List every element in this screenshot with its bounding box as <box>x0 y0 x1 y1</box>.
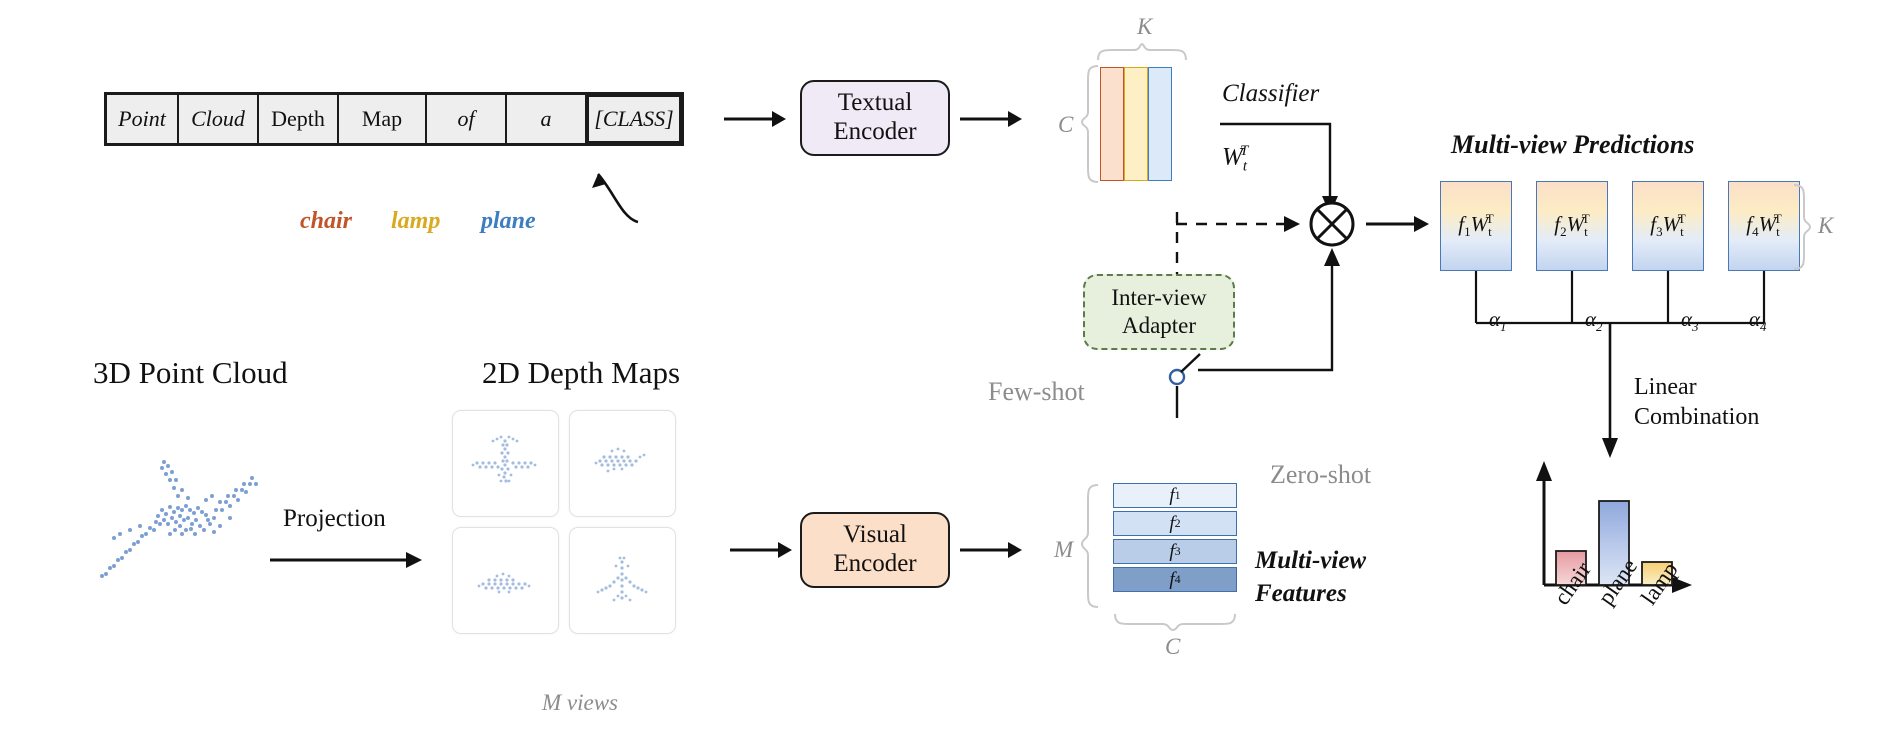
feature-row-2[interactable]: f2 <box>1113 511 1237 536</box>
depth-map-view-1[interactable] <box>452 410 559 517</box>
features-caption-line2: Features <box>1255 578 1366 611</box>
pred4-wsub: t <box>1776 225 1780 240</box>
alpha-3-symbol: α <box>1681 307 1692 331</box>
alpha-4-symbol: α <box>1749 307 1760 331</box>
adapter-upward-dashed-connector <box>1170 212 1184 282</box>
alpha-4-sub: 4 <box>1760 319 1767 334</box>
arrow-adapter-to-operator-dashed <box>1176 212 1306 236</box>
pred3-wsup: T <box>1678 211 1686 226</box>
class-word-lamp[interactable]: lamp <box>391 208 440 235</box>
depth-map-1-points <box>453 411 558 516</box>
feature-row-3[interactable]: f3 <box>1113 539 1237 564</box>
pred2-wsup: T <box>1582 211 1590 226</box>
prediction-box-3[interactable]: f3WtT <box>1632 181 1704 271</box>
alpha-label-4: α4 <box>1749 307 1767 335</box>
prediction-boxes-group: f1WtT f2WtT f3WtT f4WtT <box>1440 181 1800 271</box>
visual-encoder-box[interactable]: Visual Encoder <box>800 512 950 588</box>
multi-view-features-caption: Multi-view Features <box>1255 545 1366 610</box>
prompt-token-class[interactable]: [CLASS] <box>586 94 682 144</box>
depth-map-view-4[interactable] <box>569 527 676 634</box>
projection-label: Projection <box>283 505 386 533</box>
predictions-dim-k-label: K <box>1818 213 1833 239</box>
depth-map-2-points <box>570 411 675 516</box>
arrow-prompt-to-textual-encoder <box>724 107 788 131</box>
features-dim-m-label: M <box>1054 537 1073 563</box>
prompt-token-cloud[interactable]: Cloud <box>179 95 259 143</box>
alpha-3-sub: 3 <box>1692 319 1699 334</box>
pred3-wsub: t <box>1680 225 1684 240</box>
prediction-box-4[interactable]: f4WtT <box>1728 181 1800 271</box>
feature-2-sub: 2 <box>1175 516 1181 531</box>
depth-map-view-3[interactable] <box>452 527 559 634</box>
prompt-token-point[interactable]: Point <box>107 95 179 143</box>
pred1-wsub: t <box>1488 225 1492 240</box>
zero-shot-label: Zero-shot <box>1270 460 1371 490</box>
classifier-label: Classifier <box>1222 80 1319 108</box>
prediction-box-1[interactable]: f1WtT <box>1440 181 1512 271</box>
textual-encoder-box[interactable]: Textual Encoder <box>800 80 950 156</box>
point-cloud-visualization <box>70 430 290 590</box>
few-shot-label: Few-shot <box>988 377 1085 407</box>
depth-maps-caption: M views <box>542 690 618 716</box>
linear-combination-label: Linear Combination <box>1634 372 1759 432</box>
depth-map-view-2[interactable] <box>569 410 676 517</box>
prediction-box-2[interactable]: f2WtT <box>1536 181 1608 271</box>
arrow-projection <box>270 548 425 572</box>
classifier-dim-k-label: K <box>1137 14 1152 40</box>
class-word-plane[interactable]: plane <box>481 208 536 235</box>
textual-encoder-line2: Encoder <box>833 118 916 147</box>
classifier-column-plane[interactable] <box>1148 67 1172 181</box>
prompt-token-of[interactable]: of <box>427 95 507 143</box>
feature-1-sub: 1 <box>1175 488 1181 503</box>
feature-row-1[interactable]: f1 <box>1113 483 1237 508</box>
visual-encoder-line2: Encoder <box>833 550 916 579</box>
arrow-visual-encoder-to-features <box>960 538 1024 562</box>
alpha-label-1: α1 <box>1489 307 1507 335</box>
features-brace-bottom-icon <box>1113 612 1237 632</box>
feature-row-4[interactable]: f4 <box>1113 567 1237 592</box>
tensor-product-icon <box>1308 200 1356 248</box>
alpha-1-symbol: α <box>1489 307 1500 331</box>
classifier-matrix <box>1100 67 1172 181</box>
feature-3-sub: 3 <box>1175 544 1181 559</box>
depth-map-4-points <box>570 528 675 633</box>
classifier-column-lamp[interactable] <box>1124 67 1148 181</box>
point-cloud-title: 3D Point Cloud <box>93 355 288 391</box>
arrow-linear-combination <box>1598 322 1622 462</box>
linear-combination-line2: Combination <box>1634 402 1759 432</box>
alpha-label-3: α3 <box>1681 307 1699 335</box>
features-caption-line1: Multi-view <box>1255 545 1366 578</box>
predictions-brace-icon <box>1792 183 1812 271</box>
pred4-wsup: T <box>1774 211 1782 226</box>
visual-encoder-line1: Visual <box>833 521 916 550</box>
alpha-1-sub: 1 <box>1500 319 1507 334</box>
depth-map-3-points <box>453 528 558 633</box>
class-curved-arrow-icon <box>540 140 670 230</box>
classifier-column-chair[interactable] <box>1100 67 1124 181</box>
alpha-2-symbol: α <box>1585 307 1596 331</box>
multi-view-feature-stack: f1 f2 f3 f4 <box>1113 483 1237 595</box>
features-brace-left-icon <box>1080 483 1100 609</box>
zero-shot-path-to-operator <box>1188 246 1348 378</box>
feature-4-sub: 4 <box>1175 572 1181 587</box>
depth-map-grid <box>452 410 674 632</box>
arrow-textual-encoder-to-classifier <box>960 107 1024 131</box>
classifier-brace-left-icon <box>1080 64 1100 184</box>
class-word-chair[interactable]: chair <box>300 208 352 235</box>
prompt-template-table: Point Cloud Depth Map of a [CLASS] <box>104 92 684 146</box>
multi-view-predictions-title: Multi-view Predictions <box>1451 130 1694 160</box>
classifier-brace-top-icon <box>1096 42 1188 62</box>
pred2-wsub: t <box>1584 225 1588 240</box>
linear-combination-line1: Linear <box>1634 372 1759 402</box>
textual-encoder-line1: Textual <box>833 89 916 118</box>
features-dim-c-label: C <box>1165 634 1180 660</box>
arrow-depthmaps-to-visual-encoder <box>730 538 794 562</box>
classifier-dim-c-label: C <box>1058 112 1073 138</box>
depth-maps-title: 2D Depth Maps <box>482 355 680 391</box>
prompt-token-a[interactable]: a <box>507 95 587 143</box>
prompt-token-map[interactable]: Map <box>339 95 427 143</box>
pred1-wsup: T <box>1486 211 1494 226</box>
prompt-token-depth[interactable]: Depth <box>259 95 339 143</box>
arrow-operator-to-predictions <box>1366 212 1432 236</box>
